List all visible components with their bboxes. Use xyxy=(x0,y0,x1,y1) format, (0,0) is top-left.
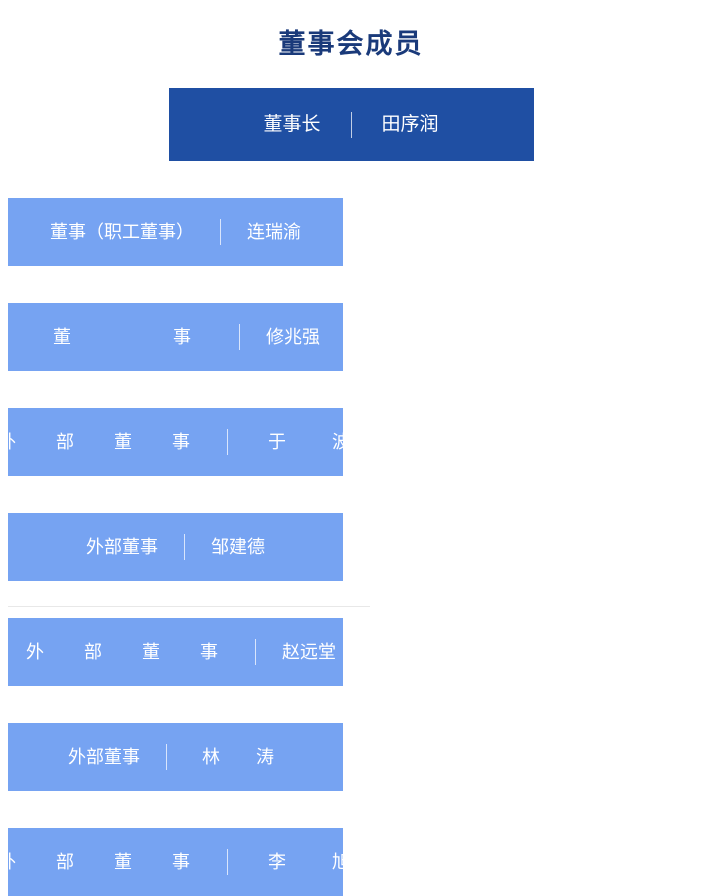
divider-line xyxy=(166,744,167,770)
chairman-name-label: 田序润 xyxy=(382,115,439,134)
member-card: 董 事修兆强 xyxy=(8,303,343,371)
member-role-label: 董 事 xyxy=(31,328,213,346)
member-name-label: 连瑞渝 xyxy=(247,223,301,241)
member-card: 外 部 董 事赵远堂 xyxy=(8,618,343,686)
member-role-label: 董事（职工董事） xyxy=(50,223,194,241)
member-name-label: 邹建德 xyxy=(211,538,265,556)
member-card: 董事（职工董事）连瑞渝 xyxy=(8,198,343,266)
member-role-label: 外部董事 xyxy=(68,748,140,766)
board-members-page: 董事会成员 董事长 田序润 董事（职工董事）连瑞渝董 事修兆强外 部 董 事于 … xyxy=(0,0,702,652)
member-role-label: 外 部 董 事 xyxy=(0,853,201,871)
member-card: 外部董事林 涛 xyxy=(8,723,343,791)
divider-line xyxy=(220,219,221,245)
divider-line xyxy=(239,324,240,350)
member-name-label: 修兆强 xyxy=(266,328,320,346)
divider-line xyxy=(184,534,185,560)
chairman-role-label: 董事长 xyxy=(263,115,320,134)
divider-line xyxy=(351,112,352,138)
page-title: 董事会成员 xyxy=(0,0,702,58)
member-role-label: 外 部 董 事 xyxy=(0,433,201,451)
divider-line xyxy=(227,429,228,455)
divider-line xyxy=(227,849,228,875)
member-name-label: 于 波 xyxy=(254,433,364,451)
member-card: 外 部 董 事于 波 xyxy=(8,408,343,476)
member-name-label: 李 旭 xyxy=(254,853,364,871)
member-role-label: 外 部 董 事 xyxy=(15,643,229,661)
chairman-row: 董事长 田序润 xyxy=(0,88,702,161)
divider-line xyxy=(255,639,256,665)
member-card: 外 部 董 事李 旭 xyxy=(8,828,343,896)
members-grid: 董事（职工董事）连瑞渝董 事修兆强外 部 董 事于 波外部董事邹建德外 部 董 … xyxy=(0,198,702,896)
bottom-hairline xyxy=(8,606,370,607)
member-name-label: 林 涛 xyxy=(193,748,283,766)
member-card: 外部董事邹建德 xyxy=(8,513,343,581)
member-name-label: 赵远堂 xyxy=(282,643,336,661)
member-role-label: 外部董事 xyxy=(86,538,158,556)
chairman-card: 董事长 田序润 xyxy=(169,88,534,161)
